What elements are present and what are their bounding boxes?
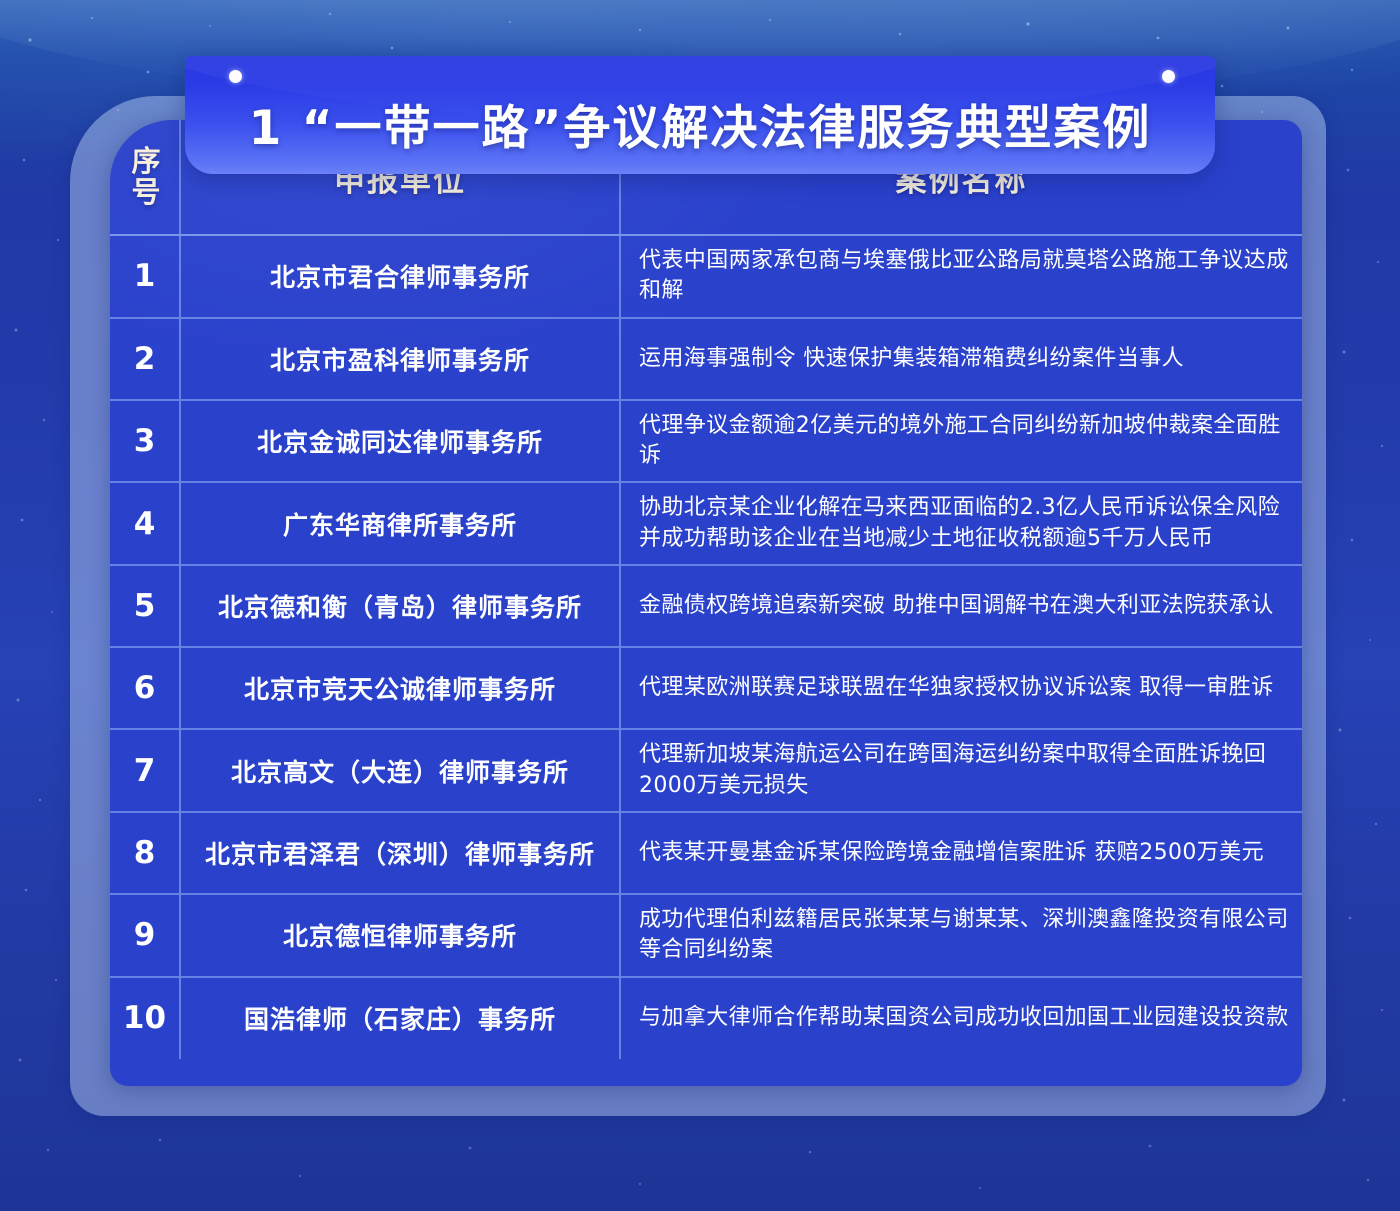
cell-index: 3 (110, 400, 180, 483)
cell-unit: 国浩律师（石家庄）事务所 (180, 977, 620, 1059)
cell-unit: 北京市君合律师事务所 (180, 235, 620, 318)
cell-index: 2 (110, 318, 180, 400)
cell-unit: 广东华商律所事务所 (180, 482, 620, 565)
cell-unit: 北京高文（大连）律师事务所 (180, 729, 620, 812)
poster-canvas: 序 号 申报单位 案例名称 1北京市君合律师事务所代表中国两家承包商与埃塞俄比亚… (0, 0, 1400, 1211)
cell-unit: 北京市竞天公诚律师事务所 (180, 647, 620, 729)
cell-index: 10 (110, 977, 180, 1059)
cell-case: 代表中国两家承包商与埃塞俄比亚公路局就莫塔公路施工争议达成和解 (620, 235, 1302, 318)
cell-case: 协助北京某企业化解在马来西亚面临的2.3亿人民币诉讼保全风险 并成功帮助该企业在… (620, 482, 1302, 565)
table-row: 10国浩律师（石家庄）事务所与加拿大律师合作帮助某国资公司成功收回加国工业园建设… (110, 977, 1302, 1059)
cell-index: 7 (110, 729, 180, 812)
cell-unit: 北京金诚同达律师事务所 (180, 400, 620, 483)
case-table: 序 号 申报单位 案例名称 1北京市君合律师事务所代表中国两家承包商与埃塞俄比亚… (110, 120, 1302, 1059)
table-body: 1北京市君合律师事务所代表中国两家承包商与埃塞俄比亚公路局就莫塔公路施工争议达成… (110, 235, 1302, 1059)
table-row: 9北京德恒律师事务所成功代理伯利兹籍居民张某某与谢某某、深圳澳鑫隆投资有限公司等… (110, 894, 1302, 977)
table-row: 6北京市竞天公诚律师事务所代理某欧洲联赛足球联盟在华独家授权协议诉讼案 取得一审… (110, 647, 1302, 729)
cell-index: 5 (110, 565, 180, 647)
table-panel: 序 号 申报单位 案例名称 1北京市君合律师事务所代表中国两家承包商与埃塞俄比亚… (110, 120, 1302, 1086)
table-row: 1北京市君合律师事务所代表中国两家承包商与埃塞俄比亚公路局就莫塔公路施工争议达成… (110, 235, 1302, 318)
cell-case: 代理某欧洲联赛足球联盟在华独家授权协议诉讼案 取得一审胜诉 (620, 647, 1302, 729)
column-header-index: 序 号 (110, 120, 180, 235)
table-row: 7北京高文（大连）律师事务所代理新加坡某海航运公司在跨国海运纠纷案中取得全面胜诉… (110, 729, 1302, 812)
cell-index: 8 (110, 812, 180, 894)
table-row: 4广东华商律所事务所协助北京某企业化解在马来西亚面临的2.3亿人民币诉讼保全风险… (110, 482, 1302, 565)
cell-unit: 北京德和衡（青岛）律师事务所 (180, 565, 620, 647)
page-title: 1 “一带一路”争议解决法律服务典型案例 (249, 89, 1152, 158)
table-row: 8北京市君泽君（深圳）律师事务所代表某开曼基金诉某保险跨境金融增信案胜诉 获赔2… (110, 812, 1302, 894)
badge-dot-right-icon (1162, 70, 1175, 83)
cell-case: 代理争议金额逾2亿美元的境外施工合同纠纷新加坡仲裁案全面胜诉 (620, 400, 1302, 483)
cell-case: 成功代理伯利兹籍居民张某某与谢某某、深圳澳鑫隆投资有限公司等合同纠纷案 (620, 894, 1302, 977)
cell-case: 与加拿大律师合作帮助某国资公司成功收回加国工业园建设投资款 (620, 977, 1302, 1059)
column-header-index-line2: 号 (116, 177, 178, 208)
cell-index: 6 (110, 647, 180, 729)
cell-index: 1 (110, 235, 180, 318)
table-row: 3北京金诚同达律师事务所代理争议金额逾2亿美元的境外施工合同纠纷新加坡仲裁案全面… (110, 400, 1302, 483)
cell-case: 金融债权跨境追索新突破 助推中国调解书在澳大利亚法院获承认 (620, 565, 1302, 647)
badge-dot-left-icon (229, 70, 242, 83)
column-header-index-line1: 序 (116, 146, 178, 177)
table-row: 5北京德和衡（青岛）律师事务所金融债权跨境追索新突破 助推中国调解书在澳大利亚法… (110, 565, 1302, 647)
table-row: 2北京市盈科律师事务所运用海事强制令 快速保护集装箱滞箱费纠纷案件当事人 (110, 318, 1302, 400)
cell-unit: 北京德恒律师事务所 (180, 894, 620, 977)
cell-unit: 北京市君泽君（深圳）律师事务所 (180, 812, 620, 894)
cell-case: 运用海事强制令 快速保护集装箱滞箱费纠纷案件当事人 (620, 318, 1302, 400)
cell-unit: 北京市盈科律师事务所 (180, 318, 620, 400)
cell-index: 4 (110, 482, 180, 565)
cell-case: 代表某开曼基金诉某保险跨境金融增信案胜诉 获赔2500万美元 (620, 812, 1302, 894)
title-badge: 1 “一带一路”争议解决法律服务典型案例 (185, 56, 1215, 174)
cell-index: 9 (110, 894, 180, 977)
cell-case: 代理新加坡某海航运公司在跨国海运纠纷案中取得全面胜诉挽回2000万美元损失 (620, 729, 1302, 812)
